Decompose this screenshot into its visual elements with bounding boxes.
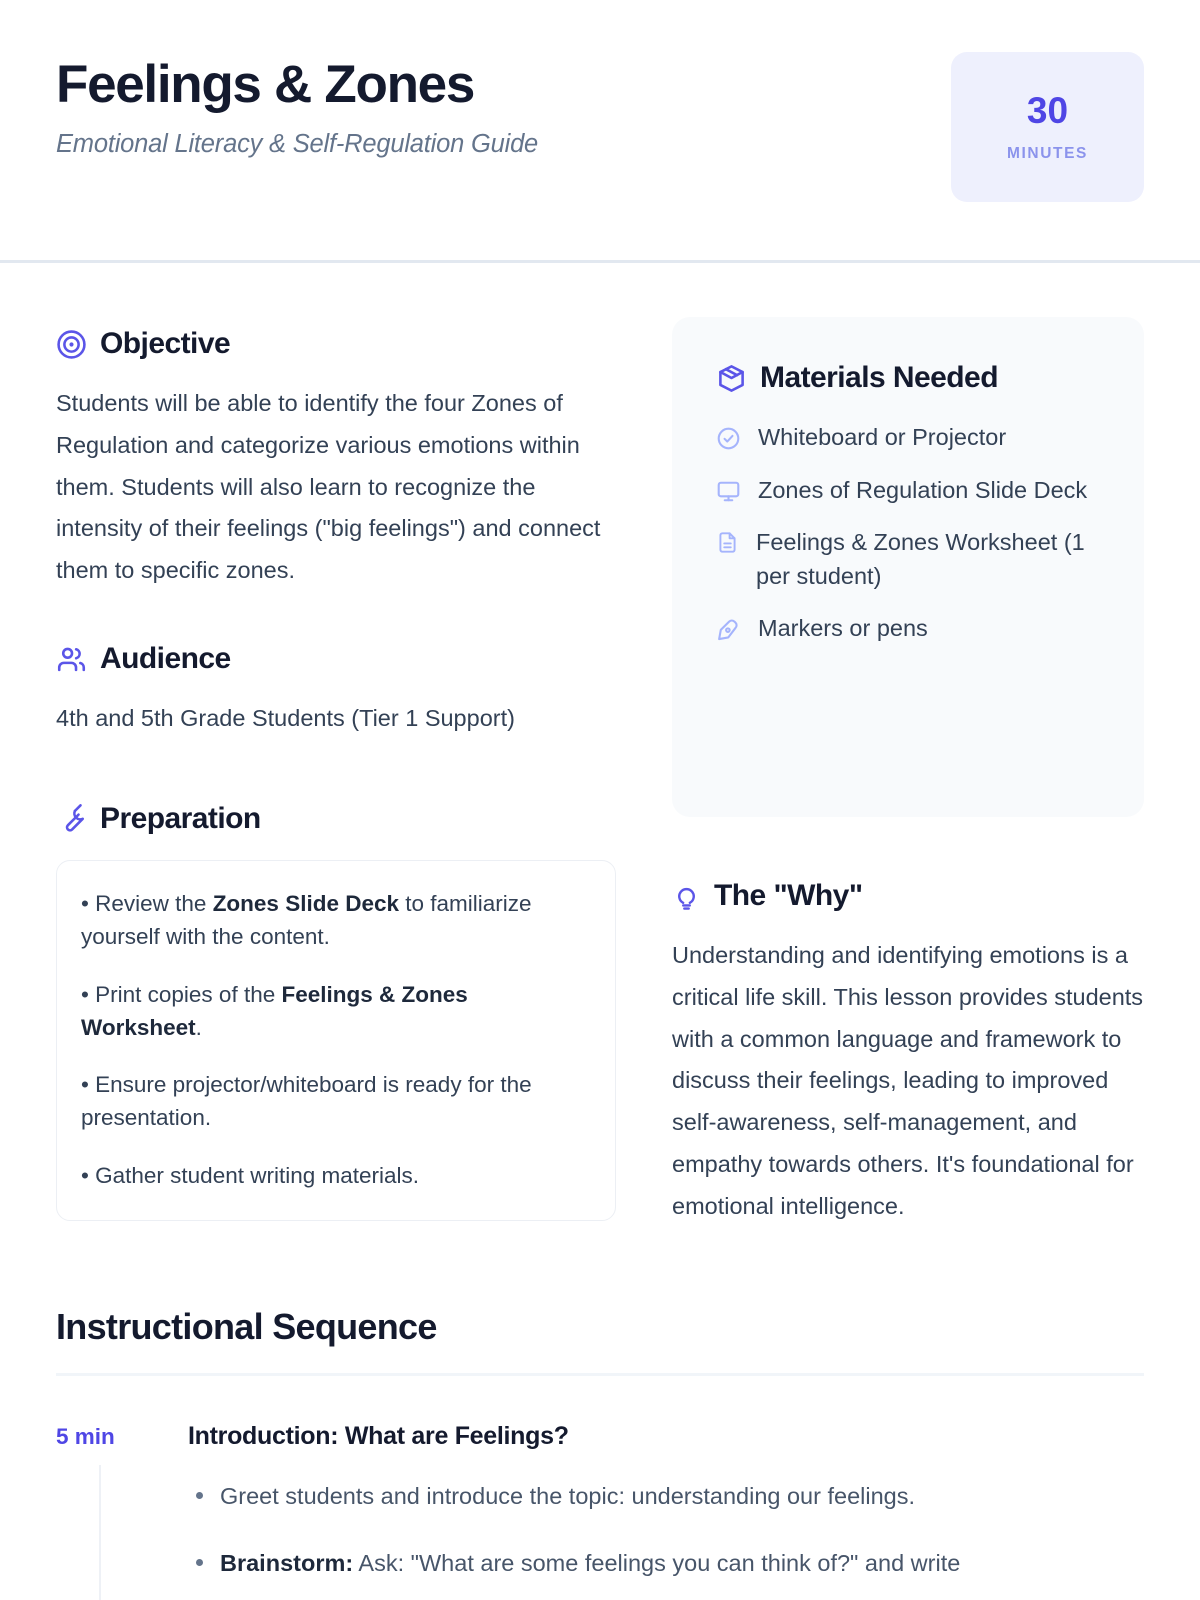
sequence-divider xyxy=(56,1373,1144,1376)
material-list-item: Markers or pens xyxy=(716,612,1104,646)
right-column: Materials Needed Whiteboard or Projector xyxy=(672,263,1144,1228)
why-header: The "Why" xyxy=(672,879,1144,913)
preparation-item: • Review the Zones Slide Deck to familia… xyxy=(81,887,591,954)
preparation-heading: Preparation xyxy=(100,802,261,836)
material-label: Feelings & Zones Worksheet (1 per studen… xyxy=(756,526,1104,593)
wrench-icon xyxy=(56,803,87,834)
preparation-item: • Gather student writing materials. xyxy=(81,1159,591,1192)
duration-unit: MINUTES xyxy=(1007,145,1088,163)
pen-icon xyxy=(716,612,741,642)
material-list-item: Whiteboard or Projector xyxy=(716,421,1104,455)
package-icon xyxy=(716,363,747,394)
header-text-group: Feelings & Zones Emotional Literacy & Se… xyxy=(56,52,538,159)
main-content: Objective Students will be able to ident… xyxy=(0,263,1200,1228)
objective-text: Students will be able to identify the fo… xyxy=(56,383,616,592)
monitor-icon xyxy=(716,474,741,504)
material-list-item: Zones of Regulation Slide Deck xyxy=(716,474,1104,508)
users-icon xyxy=(56,644,87,675)
preparation-section: Preparation • Review the Zones Slide Dec… xyxy=(56,802,616,1221)
audience-text: 4th and 5th Grade Students (Tier 1 Suppo… xyxy=(56,698,616,740)
step-bullet-list: Greet students and introduce the topic: … xyxy=(188,1479,1144,1582)
audience-header: Audience xyxy=(56,642,616,676)
step-heading: Introduction: What are Feelings? xyxy=(188,1422,1144,1451)
lightbulb-icon xyxy=(672,882,701,911)
check-circle-icon xyxy=(716,421,741,451)
objective-section: Objective Students will be able to ident… xyxy=(56,327,616,592)
duration-value: 30 xyxy=(1027,92,1068,129)
materials-header: Materials Needed xyxy=(716,361,1104,395)
material-list-item: Feelings & Zones Worksheet (1 per studen… xyxy=(716,526,1104,593)
left-column: Objective Students will be able to ident… xyxy=(56,263,616,1228)
document-header: Feelings & Zones Emotional Literacy & Se… xyxy=(0,0,1200,202)
why-heading: The "Why" xyxy=(714,879,863,913)
materials-card: Materials Needed Whiteboard or Projector xyxy=(672,317,1144,817)
step-bullet: Brainstorm: Ask: "What are some feelings… xyxy=(218,1546,1144,1581)
material-label: Whiteboard or Projector xyxy=(758,421,1006,455)
material-label: Markers or pens xyxy=(758,612,928,646)
materials-heading: Materials Needed xyxy=(760,361,998,395)
sequence-step: 5 min Introduction: What are Feelings? G… xyxy=(56,1422,1144,1600)
target-icon xyxy=(56,329,87,360)
step-duration: 5 min xyxy=(56,1422,188,1600)
preparation-header: Preparation xyxy=(56,802,616,836)
objective-heading: Objective xyxy=(100,327,230,361)
audience-heading: Audience xyxy=(100,642,231,676)
sequence-title: Instructional Sequence xyxy=(56,1306,1144,1348)
why-text: Understanding and identifying emotions i… xyxy=(672,935,1144,1228)
step-bullet: Greet students and introduce the topic: … xyxy=(218,1479,1144,1514)
why-section: The "Why" Understanding and identifying … xyxy=(672,879,1144,1228)
page-title: Feelings & Zones xyxy=(56,56,538,113)
objective-header: Objective xyxy=(56,327,616,361)
step-content: Introduction: What are Feelings? Greet s… xyxy=(188,1422,1144,1600)
instructional-sequence-section: Instructional Sequence 5 min Introductio… xyxy=(0,1306,1200,1600)
audience-section: Audience 4th and 5th Grade Students (Tie… xyxy=(56,642,616,740)
preparation-item: • Print copies of the Feelings & Zones W… xyxy=(81,978,591,1045)
duration-badge: 30 MINUTES xyxy=(951,52,1144,202)
preparation-box: • Review the Zones Slide Deck to familia… xyxy=(56,860,616,1221)
document-icon xyxy=(716,526,739,554)
materials-list: Whiteboard or Projector Zones of Regulat… xyxy=(716,421,1104,646)
preparation-item: • Ensure projector/whiteboard is ready f… xyxy=(81,1068,591,1135)
material-label: Zones of Regulation Slide Deck xyxy=(758,474,1087,508)
page-subtitle: Emotional Literacy & Self-Regulation Gui… xyxy=(56,130,538,159)
